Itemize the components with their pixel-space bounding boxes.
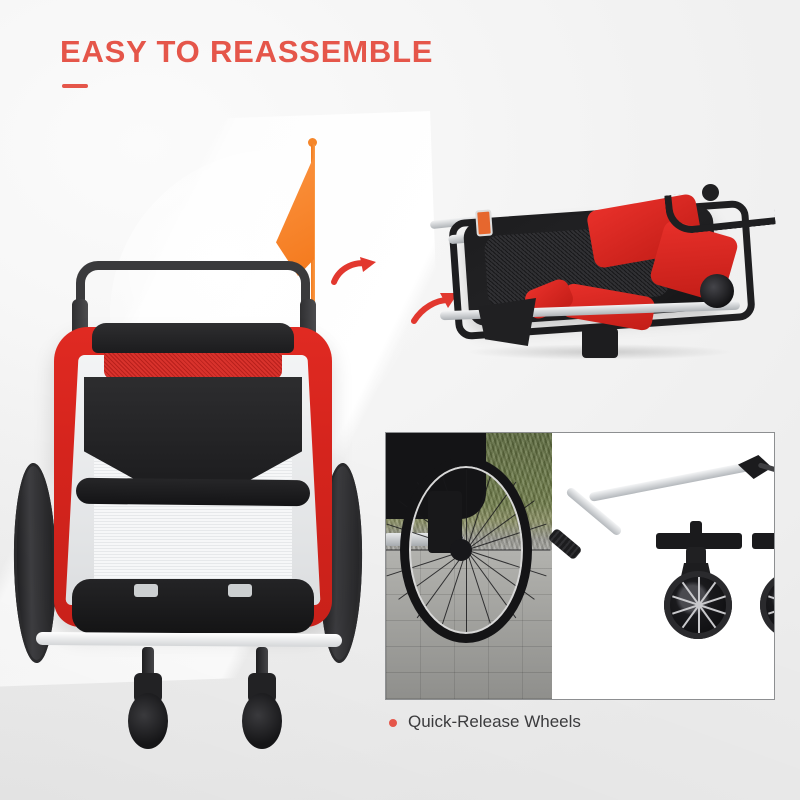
front-caster-left xyxy=(126,647,170,751)
page-title: EASY TO REASSEMBLE xyxy=(60,34,433,70)
detail-panel xyxy=(385,432,775,700)
quick-release-wheel-2 xyxy=(748,517,775,639)
caption-bullet-icon xyxy=(389,719,397,727)
wheel-photo xyxy=(386,433,552,699)
hitch-arm-grip xyxy=(547,528,582,561)
folded-trailer-image xyxy=(430,188,780,373)
assembled-trailer-image xyxy=(8,255,368,725)
folded-reflector xyxy=(475,209,493,236)
reflector-left xyxy=(134,584,158,597)
trailer-cabin xyxy=(54,327,332,627)
folded-wheel-knob xyxy=(700,274,734,308)
cabin-lower-skirt xyxy=(72,579,314,633)
quick-release-wheel-1 xyxy=(652,517,744,639)
front-caster-right xyxy=(240,647,284,751)
title-underline-rule xyxy=(62,84,88,88)
qr-spokes xyxy=(664,571,732,639)
reflector-right xyxy=(228,584,252,597)
qr-axle-bar xyxy=(752,533,775,549)
cabin-visor xyxy=(92,323,294,353)
parts-illustration xyxy=(552,433,774,699)
folded-handlebar xyxy=(664,184,776,235)
front-cross-bar xyxy=(36,632,342,647)
product-infographic: EASY TO REASSEMBLE xyxy=(0,0,800,800)
cabin-strap-bar xyxy=(76,478,310,506)
photo-wheel-hub xyxy=(450,539,472,561)
caster-tyre xyxy=(242,693,282,749)
push-handlebar xyxy=(76,261,310,307)
folded-handle-joint xyxy=(702,184,719,201)
hitch-arm-main xyxy=(589,461,756,502)
folded-hitch-block xyxy=(582,328,618,358)
qr-spokes xyxy=(760,571,775,639)
caster-tyre xyxy=(128,693,168,749)
caption-text: Quick-Release Wheels xyxy=(408,712,581,732)
